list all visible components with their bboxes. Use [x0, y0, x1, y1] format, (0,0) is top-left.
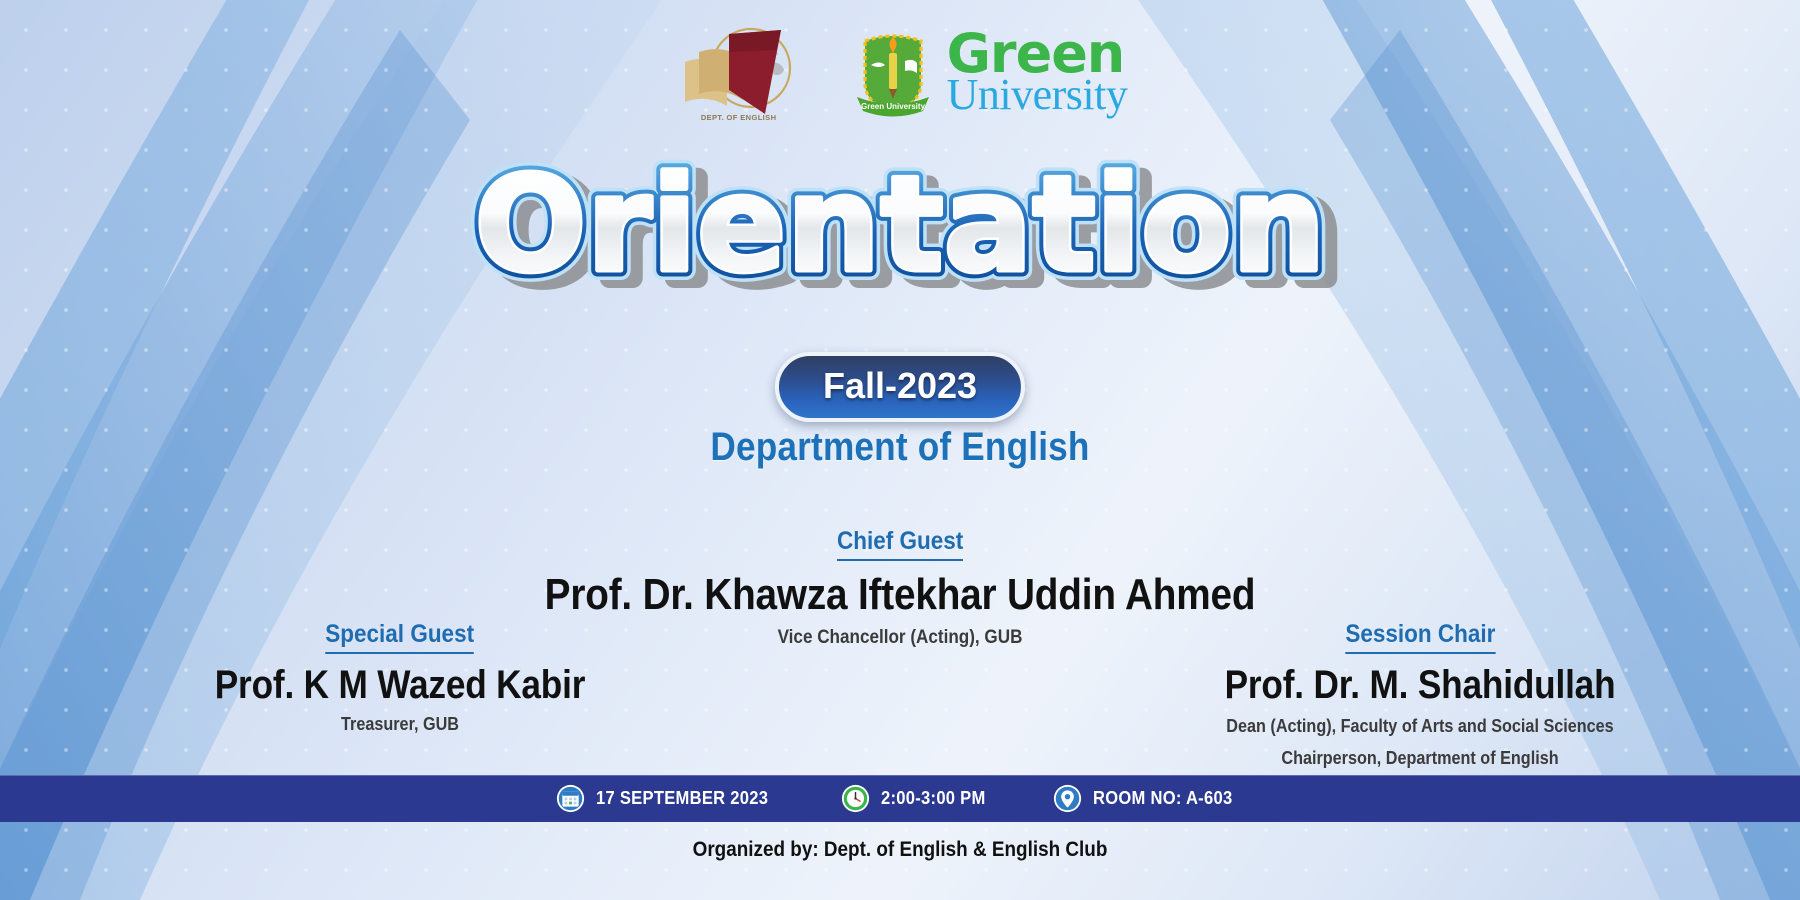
department-subtitle: Department of English: [108, 425, 1692, 470]
event-venue-item: ROOM NO: A-603: [1053, 784, 1245, 813]
location-pin-icon: [1053, 784, 1082, 813]
university-name-line2: University: [947, 75, 1128, 115]
special-guest-name: Prof. K M Wazed Kabir: [180, 663, 620, 708]
session-chair-block: Session Chair Prof. Dr. M. Shahidullah D…: [1150, 620, 1690, 771]
university-crest-icon: Green University: [853, 25, 933, 119]
event-info-bar: 17 SEPTEMBER 2023 2:00-3:00 PM ROOM NO: …: [0, 775, 1800, 822]
svg-text:Orientation: Orientation: [474, 150, 1325, 302]
special-guest-block: Special Guest Prof. K M Wazed Kabir Trea…: [150, 620, 650, 735]
svg-text:Green University: Green University: [861, 102, 926, 111]
chief-guest-name: Prof. Dr. Khawza Iftekhar Uddin Ahmed: [108, 570, 1692, 620]
green-university-logo: Green University Green University: [853, 25, 1128, 119]
event-date-text: 17 SEPTEMBER 2023: [596, 788, 768, 809]
clock-icon: [841, 784, 870, 813]
chief-guest-role-label: Chief Guest: [837, 527, 963, 561]
main-title: Orientation Orientation Orientation Orie…: [0, 150, 1800, 330]
event-time-item: 2:00-3:00 PM: [841, 784, 995, 813]
event-venue-text: ROOM NO: A-603: [1093, 788, 1232, 809]
logo-row: DEPT. OF ENGLISH Green University Green …: [0, 22, 1800, 122]
session-chair-role-label: Session Chair: [1345, 620, 1495, 654]
session-chair-name: Prof. Dr. M. Shahidullah: [1182, 663, 1657, 708]
special-guest-designation: Treasurer, GUB: [175, 714, 625, 735]
session-chair-designation-line2: Chairperson, Department of English: [1177, 746, 1663, 772]
event-banner: DEPT. OF ENGLISH Green University Green …: [0, 0, 1800, 900]
event-date-item: 17 SEPTEMBER 2023: [556, 784, 783, 813]
calendar-icon: [556, 784, 585, 813]
semester-badge: Fall-2023: [775, 352, 1025, 422]
dept-logo-label: DEPT. OF ENGLISH: [673, 113, 805, 122]
event-time-text: 2:00-3:00 PM: [881, 788, 986, 809]
session-chair-designation-line1: Dean (Acting), Faculty of Arts and Socia…: [1177, 714, 1663, 740]
special-guest-role-label: Special Guest: [326, 620, 475, 654]
organizer-footer: Organized by: Dept. of English & English…: [90, 838, 1710, 862]
dept-of-english-logo: DEPT. OF ENGLISH: [673, 22, 805, 122]
